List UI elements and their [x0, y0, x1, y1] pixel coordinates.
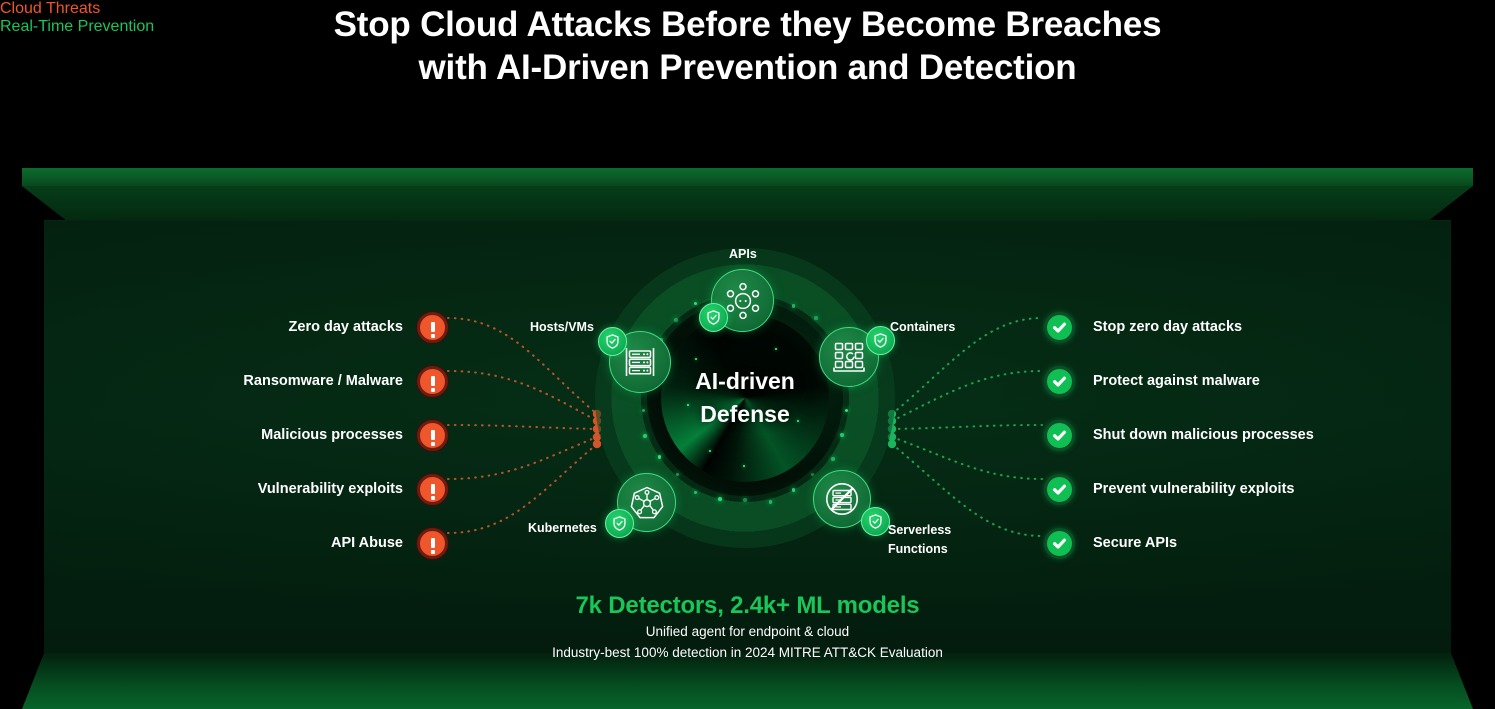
threat-label: Malicious processes	[261, 427, 403, 443]
threat-label: Zero day attacks	[289, 319, 403, 335]
check-icon	[1044, 312, 1075, 343]
list-item[interactable]: Zero day attacks	[200, 300, 448, 354]
title-line-1: Stop Cloud Attacks Before they Become Br…	[0, 4, 1495, 47]
node-label-containers: Containers	[890, 318, 955, 337]
panel-top-bevel	[22, 168, 1473, 186]
prevention-label: Secure APIs	[1093, 535, 1177, 551]
check-icon	[1044, 366, 1075, 397]
list-item[interactable]: Vulnerability exploits	[200, 462, 448, 516]
threat-label: Vulnerability exploits	[258, 481, 403, 497]
serverless-icon	[822, 479, 862, 519]
list-item[interactable]: API Abuse	[200, 516, 448, 570]
page-title: Stop Cloud Attacks Before they Become Br…	[0, 0, 1495, 89]
threat-label: Ransomware / Malware	[243, 373, 403, 389]
slide-canvas: Stop Cloud Attacks Before they Become Br…	[0, 0, 1495, 709]
container-grid-icon	[829, 337, 869, 377]
list-item[interactable]: Malicious processes	[200, 408, 448, 462]
panel-top-slope	[22, 186, 1473, 220]
list-item[interactable]: Stop zero day attacks	[1044, 300, 1374, 354]
api-hub-icon	[723, 281, 763, 321]
list-item[interactable]: Shut down malicious processes	[1044, 408, 1374, 462]
node-label-serverless-functions: Serverless Functions	[888, 521, 951, 559]
real-time-prevention-list: Stop zero day attacks Protect against ma…	[1044, 300, 1374, 570]
threat-label: API Abuse	[331, 535, 403, 551]
alert-icon	[417, 474, 448, 505]
cloud-threats-list: Zero day attacks Ransomware / Malware Ma…	[200, 300, 448, 570]
check-icon	[1044, 474, 1075, 505]
prevention-label: Prevent vulnerability exploits	[1093, 481, 1294, 497]
title-line-2: with AI-Driven Prevention and Detection	[0, 47, 1495, 90]
node-label-hosts-vms: Hosts/VMs	[530, 318, 594, 337]
alert-icon	[417, 528, 448, 559]
footer-sub-1: Unified agent for endpoint & cloud	[0, 622, 1495, 641]
check-icon	[1044, 528, 1075, 559]
list-item[interactable]: Protect against malware	[1044, 354, 1374, 408]
detector-stat: 7k Detectors, 2.4k+ ML models	[0, 592, 1495, 620]
prevention-label: Stop zero day attacks	[1093, 319, 1242, 335]
hub-core-line-1: AI-driven	[695, 365, 795, 398]
hub-core-line-2: Defense	[700, 398, 789, 431]
shield-check-icon	[861, 507, 890, 536]
node-label-kubernetes: Kubernetes	[528, 519, 597, 538]
alert-icon	[417, 366, 448, 397]
footer-sub-2: Industry-best 100% detection in 2024 MIT…	[0, 643, 1495, 662]
alert-icon	[417, 312, 448, 343]
list-item[interactable]: Prevent vulnerability exploits	[1044, 462, 1374, 516]
prevention-label: Shut down malicious processes	[1093, 427, 1314, 443]
alert-icon	[417, 420, 448, 451]
shield-check-icon	[605, 509, 634, 538]
check-icon	[1044, 420, 1075, 451]
list-item[interactable]: Ransomware / Malware	[200, 354, 448, 408]
list-item[interactable]: Secure APIs	[1044, 516, 1374, 570]
shield-check-icon	[598, 327, 627, 356]
server-rack-icon	[620, 342, 660, 382]
shield-check-icon	[699, 303, 728, 332]
node-label-apis: APIs	[729, 245, 757, 264]
footer-stats: 7k Detectors, 2.4k+ ML models Unified ag…	[0, 592, 1495, 662]
prevention-label: Protect against malware	[1093, 373, 1260, 389]
